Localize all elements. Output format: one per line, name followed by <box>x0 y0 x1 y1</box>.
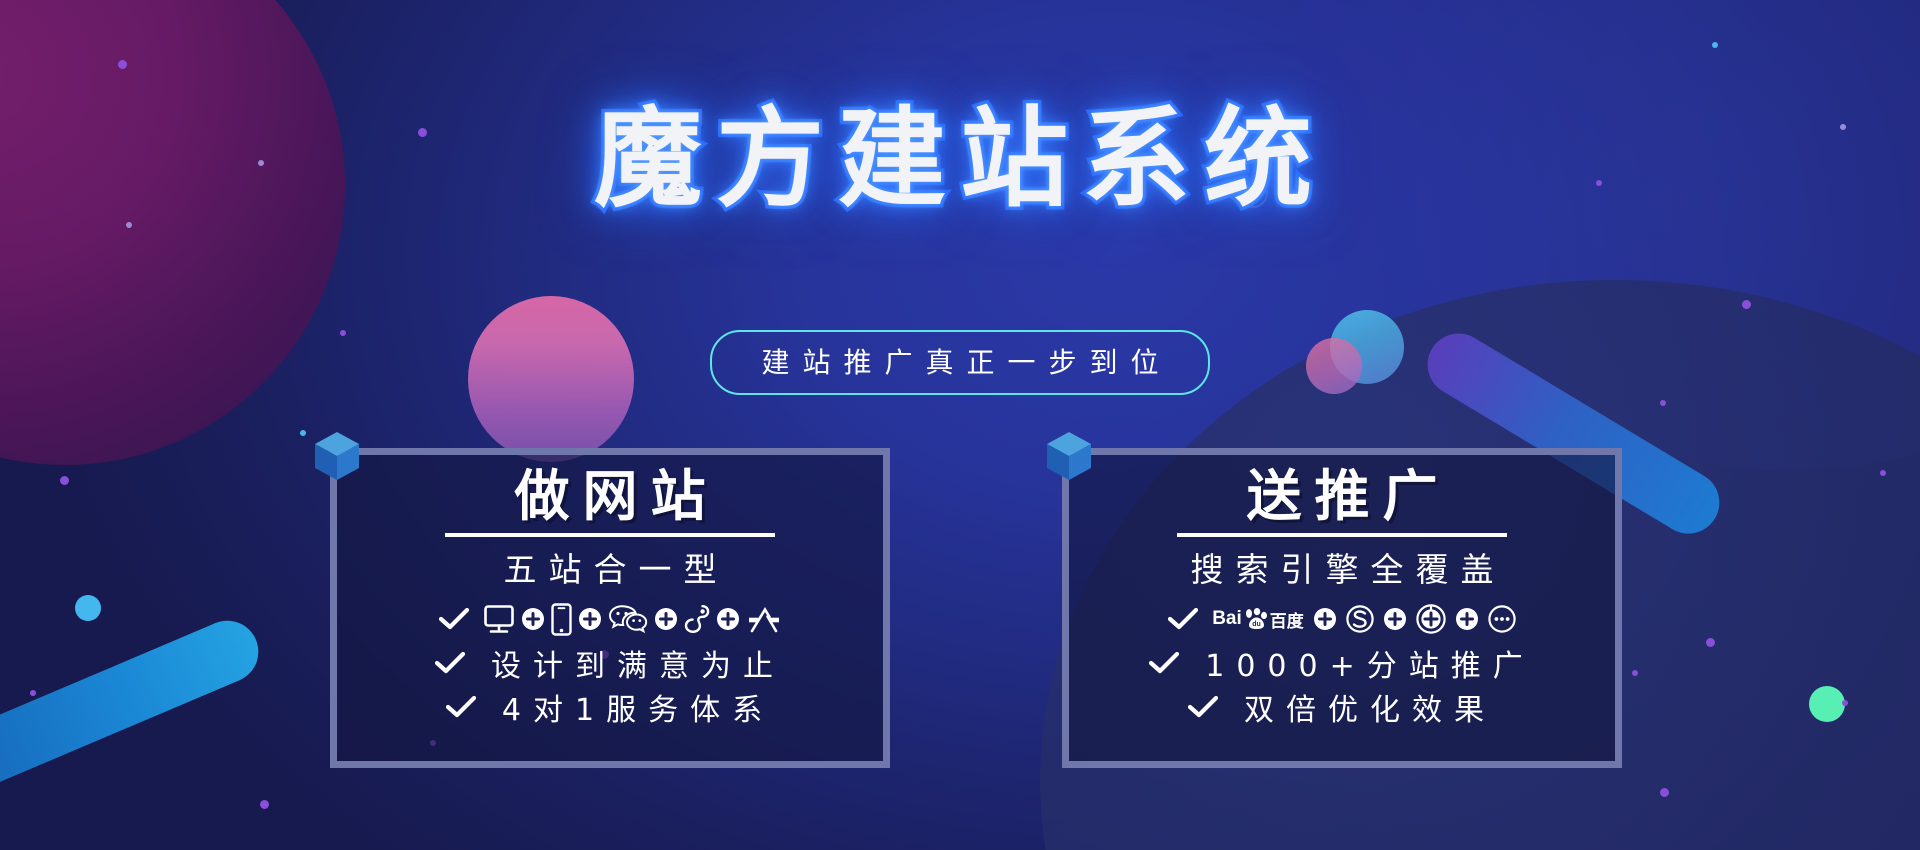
feature-row: 4对1服务体系 <box>446 685 774 729</box>
card-subtitle: 搜索引擎全覆盖 <box>1179 543 1506 591</box>
background-circle-top-left <box>0 0 345 465</box>
main-title: 魔方建站系统 <box>594 100 1326 221</box>
card-make-website[interactable]: 做网站 五站合一型 <box>330 448 890 768</box>
plus-icon <box>1384 608 1406 630</box>
check-icon <box>1149 652 1179 674</box>
sogou-icon <box>1346 605 1374 633</box>
wechat-icon <box>608 604 648 634</box>
feature-label: 设计到满意为止 <box>479 641 785 685</box>
subtitle-block: 建站推广真正一步到位 <box>0 330 1920 395</box>
feature-label: 4对1服务体系 <box>490 685 774 729</box>
check-icon <box>439 608 469 630</box>
background-arc-top-right <box>1300 0 1920 470</box>
feature-row: 双倍优化效果 <box>1188 685 1496 729</box>
card-free-promotion[interactable]: 送推广 搜索引擎全覆盖 Bai <box>1062 448 1622 768</box>
baidu-zh: 百度 <box>1270 607 1304 632</box>
baidu-latin: Bai <box>1212 608 1242 630</box>
plus-icon <box>522 608 544 630</box>
feature-label: 1000+分站推广 <box>1193 641 1534 685</box>
background-star <box>118 60 127 69</box>
baidu-du: du <box>1252 622 1261 629</box>
card-title-rule <box>1177 533 1507 537</box>
check-icon <box>435 652 465 674</box>
background-star <box>300 430 306 436</box>
background-star <box>1660 400 1666 406</box>
more-icon <box>1488 605 1516 633</box>
background-star <box>1742 300 1751 309</box>
plus-icon <box>1314 608 1336 630</box>
weibo-icon <box>684 603 710 635</box>
cards-region: 做网站 五站合一型 <box>0 448 1920 788</box>
baidu-paw-icon: du <box>1244 608 1268 630</box>
title-block: 魔方建站系统 <box>0 100 1920 221</box>
appstore-icon <box>746 604 782 634</box>
card-title-rule <box>445 533 775 537</box>
baidu-logo: Bai du 百度 <box>1212 607 1304 632</box>
plus-icon <box>655 608 677 630</box>
background-star <box>260 800 269 809</box>
plus-icon <box>1456 608 1478 630</box>
card-subtitle: 五站合一型 <box>492 543 729 591</box>
feature-row: 1000+分站推广 <box>1149 641 1534 685</box>
promo-banner: 魔方建站系统 建站推广真正一步到位 做网站 五站合一型 <box>0 0 1920 850</box>
check-icon <box>1168 608 1198 630</box>
subtitle-pill: 建站推广真正一步到位 <box>710 330 1209 395</box>
feature-row-platforms <box>439 597 782 641</box>
background-star <box>126 222 132 228</box>
background-star <box>1712 42 1718 48</box>
card-title: 送推广 <box>1233 467 1450 526</box>
background-star <box>1660 788 1669 797</box>
360-icon <box>1416 604 1446 634</box>
smartphone-icon <box>551 603 572 636</box>
feature-label: 双倍优化效果 <box>1232 685 1496 729</box>
check-icon <box>446 696 476 718</box>
monitor-icon <box>483 604 515 634</box>
feature-row-engines: Bai du 百度 <box>1168 597 1516 641</box>
card-title: 做网站 <box>501 467 718 526</box>
check-icon <box>1188 696 1218 718</box>
plus-icon <box>717 608 739 630</box>
feature-row: 设计到满意为止 <box>435 641 785 685</box>
plus-icon <box>579 608 601 630</box>
